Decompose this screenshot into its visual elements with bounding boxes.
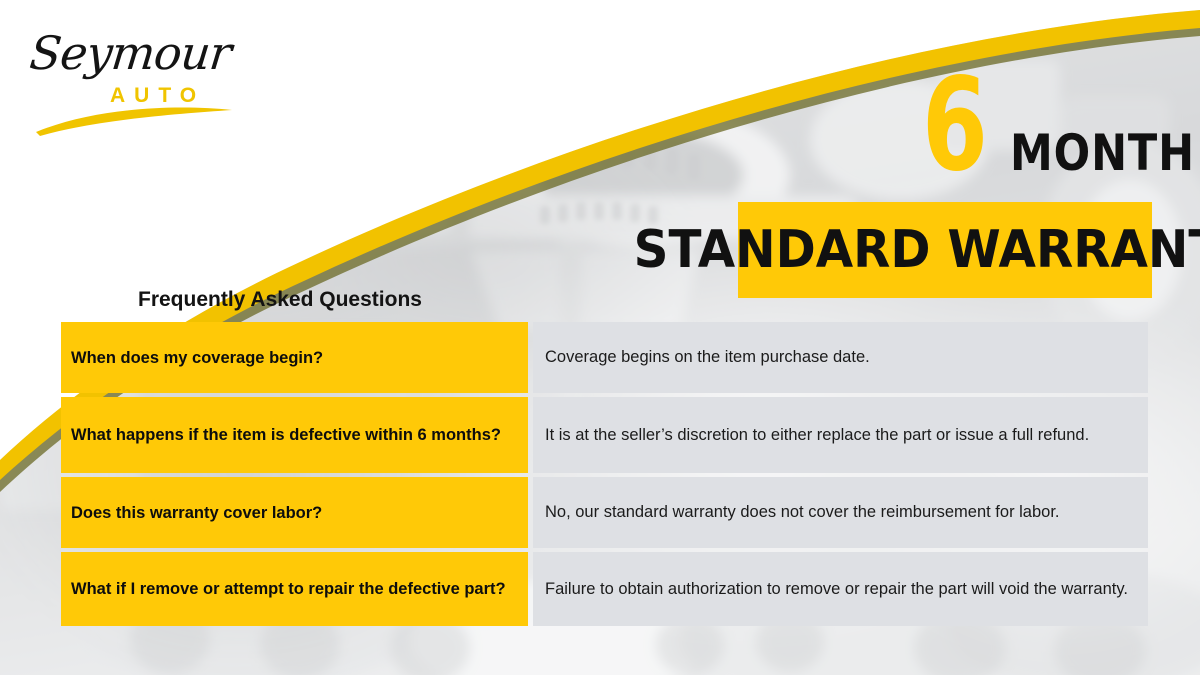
faq-answer-text: It is at the seller’s discretion to eith…	[545, 424, 1136, 447]
table-row: When does my coverage begin? Coverage be…	[61, 322, 1148, 393]
faq-answer-text: Coverage begins on the item purchase dat…	[545, 346, 1136, 369]
warranty-duration-unit: MONTH	[1010, 128, 1195, 178]
table-row: What happens if the item is defective wi…	[61, 397, 1148, 473]
faq-answer-text: No, our standard warranty does not cover…	[545, 501, 1136, 524]
faq-table: When does my coverage begin? Coverage be…	[61, 322, 1148, 626]
table-row: What if I remove or attempt to repair th…	[61, 552, 1148, 626]
faq-answer-text: Failure to obtain authorization to remov…	[545, 578, 1136, 601]
faq-heading: Frequently Asked Questions	[138, 288, 422, 312]
faq-question-cell: What if I remove or attempt to repair th…	[61, 552, 528, 626]
standard-warranty-banner: STANDARD WARRANTY	[738, 202, 1152, 298]
faq-question-cell: What happens if the item is defective wi…	[61, 397, 528, 473]
faq-answer-cell: No, our standard warranty does not cover…	[533, 477, 1148, 548]
table-row: Does this warranty cover labor? No, our …	[61, 477, 1148, 548]
faq-answer-cell: Coverage begins on the item purchase dat…	[533, 322, 1148, 393]
faq-question-cell: Does this warranty cover labor?	[61, 477, 528, 548]
faq-question-cell: When does my coverage begin?	[61, 322, 528, 393]
brand-logo: Seymour AUTO	[24, 22, 234, 132]
standard-warranty-banner-text: STANDARD WARRANTY	[752, 202, 1137, 298]
warranty-slide: Seymour AUTO 6 MONTH STANDARD WARRANTY F…	[0, 0, 1200, 675]
brand-swoosh-icon	[34, 102, 234, 138]
faq-answer-cell: It is at the seller’s discretion to eith…	[533, 397, 1148, 473]
brand-logo-script-text: Seymour	[27, 26, 233, 80]
warranty-duration-number: 6	[922, 70, 986, 182]
faq-answer-cell: Failure to obtain authorization to remov…	[533, 552, 1148, 626]
